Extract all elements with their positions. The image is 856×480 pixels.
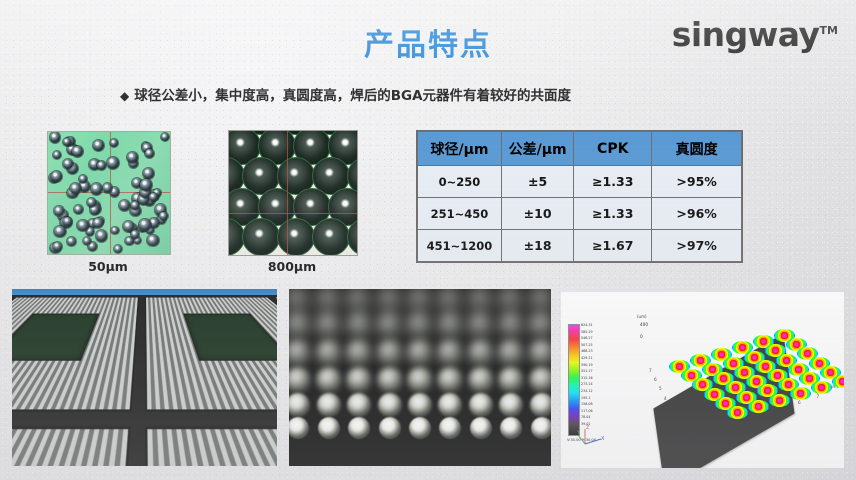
colorbar-tick-label: 156.08 — [581, 401, 615, 408]
solder-ball-particle-large — [312, 218, 350, 256]
solder-ball — [468, 367, 494, 393]
solder-ball-particle — [131, 230, 140, 239]
micrograph-800um-image — [228, 130, 358, 256]
trademark-symbol: TM — [820, 24, 838, 37]
column-header-cpk: CPK — [574, 132, 652, 166]
cell-cpk-1: ≥1.33 — [574, 166, 652, 198]
solder-ball — [289, 417, 309, 439]
solder-ball — [405, 311, 434, 340]
contour-bump — [748, 400, 769, 413]
specification-table: 球径/μm 公差/μm CPK 真圆度 0~250 ±5 ≥1.33 >95% … — [417, 131, 742, 262]
cell-diameter-3: 451~1200 — [418, 230, 502, 262]
solder-ball — [438, 393, 462, 417]
contour-bump — [811, 381, 832, 394]
colorbar-gradient — [568, 324, 580, 436]
solder-ball-particle — [161, 133, 169, 141]
solder-ball-row — [289, 311, 551, 340]
solder-ball-particle — [63, 138, 71, 146]
y-tick-label: 1 — [679, 424, 682, 429]
solder-ball — [527, 311, 551, 340]
solder-ball-particle — [87, 198, 96, 207]
x-tick-label: 6 — [798, 400, 801, 405]
solder-ball — [314, 311, 343, 340]
solder-ball — [436, 339, 464, 367]
solder-ball — [345, 339, 373, 367]
table-row: 0~250 ±5 ≥1.33 >95% — [418, 166, 742, 198]
solder-ball — [528, 339, 551, 367]
solder-ball — [379, 417, 401, 439]
slide-canvas: 产品特点 singwayTM ◆球径公差小，集中度高，真圆度高，焊后的BGA元器… — [0, 0, 856, 480]
company-logo: singwayTM — [672, 18, 838, 51]
solder-ball — [497, 311, 526, 340]
solder-ball — [498, 367, 524, 393]
solder-ball — [531, 417, 551, 439]
crosshair-horizontal-2 — [229, 213, 357, 214]
x-tick-label: 2 — [724, 421, 727, 426]
solder-ball — [436, 311, 465, 340]
solder-ball-particle — [93, 140, 104, 151]
solder-ball-particle — [149, 193, 158, 202]
solder-ball — [467, 339, 495, 367]
contour-bump — [790, 387, 811, 400]
colorbar-tick-label: 585.29 — [581, 329, 615, 336]
solder-ball — [378, 393, 402, 417]
colorbar-tick-label: 624.31 — [581, 322, 615, 329]
colorbar-tick-label: 234.12 — [581, 388, 615, 395]
solder-ball — [437, 367, 463, 393]
svg-text:X: X — [601, 436, 605, 442]
solder-ball-particle — [145, 149, 154, 158]
solder-ball-particle — [127, 152, 138, 163]
micrograph-50um-caption: 50μm — [47, 259, 169, 274]
solder-ball-row — [289, 393, 551, 417]
solder-ball — [409, 417, 431, 439]
solder-ball — [289, 339, 312, 367]
solder-ball-row — [289, 367, 551, 393]
table-row: 451~1200 ±18 ≥1.67 >97% — [418, 230, 742, 262]
solder-ball-particle — [72, 146, 83, 157]
colorbar-tick-label: 195.1 — [581, 395, 615, 402]
solder-ball — [469, 393, 493, 417]
cell-roundness-3: >97% — [652, 230, 742, 262]
solder-ball — [530, 393, 551, 417]
solder-ball — [408, 393, 432, 417]
solder-ball-particle — [97, 161, 106, 170]
colorbar-tick-labels: 624.31585.29546.27507.25468.23429.21390.… — [581, 322, 615, 428]
xyz-axis-indicator-icon: Z X Y — [577, 424, 607, 450]
solder-ball-particle — [74, 205, 83, 214]
colorbar-tick-label: 312.16 — [581, 375, 615, 382]
bullet-point: ◆球径公差小，集中度高，真圆度高，焊后的BGA元器件有着较好的共面度 — [120, 84, 571, 104]
x-tick-label: 7 — [817, 394, 820, 399]
solder-ball-particle — [147, 235, 159, 247]
solder-ball-row — [289, 339, 551, 367]
bga-array-photo — [12, 289, 277, 466]
solder-ball — [439, 417, 461, 439]
surface-plot-area: 01234567 1234567 — [635, 314, 831, 454]
solder-ball-particle — [107, 157, 119, 169]
y-tick-label: 3 — [669, 405, 672, 410]
micrograph-50um-image — [47, 131, 171, 255]
solder-ball-particle — [54, 206, 63, 215]
colorbar-tick-label: 507.25 — [581, 342, 615, 349]
solder-ball-particle — [139, 219, 150, 230]
x-tick-label: 1 — [706, 427, 709, 432]
cell-diameter-1: 0~250 — [418, 166, 502, 198]
cell-diameter-2: 251~450 — [418, 198, 502, 230]
solder-ball-particle — [131, 201, 140, 210]
bga-package — [145, 297, 278, 412]
solder-ball — [289, 311, 313, 340]
colorbar-tick-label: 351.17 — [581, 368, 615, 375]
bullet-point-text: 球径公差小，集中度高，真圆度高，焊后的BGA元器件有着较好的共面度 — [134, 88, 571, 104]
cell-cpk-2: ≥1.33 — [574, 198, 652, 230]
solder-ball-particle — [93, 218, 104, 229]
y-tick-label: 5 — [659, 386, 662, 391]
solder-ball-particle — [96, 230, 107, 241]
logo-wordmark: singway — [672, 15, 820, 54]
table-row: 251~450 ±10 ≥1.33 >96% — [418, 198, 742, 230]
colorbar-tick-label: 390.19 — [581, 362, 615, 369]
solder-ball — [377, 367, 403, 393]
y-tick-label: 2 — [674, 415, 677, 420]
solder-ball — [315, 339, 343, 367]
colorbar-tick-label: 117.06 — [581, 408, 615, 415]
cell-roundness-1: >95% — [652, 166, 742, 198]
solder-ball — [466, 311, 495, 340]
solder-ball-particle — [51, 171, 62, 182]
solder-ball-particle — [67, 237, 76, 246]
solder-ball-row — [289, 417, 551, 439]
solder-ball — [497, 339, 525, 367]
solder-ball — [289, 367, 311, 393]
diamond-bullet-icon: ◆ — [120, 89, 129, 103]
micrograph-800um-caption: 800μm — [228, 259, 356, 274]
solder-ball — [316, 367, 342, 393]
table-header-row: 球径/μm 公差/μm CPK 真圆度 — [418, 132, 742, 166]
solder-ball-particle — [159, 212, 167, 220]
solder-ball — [317, 393, 341, 417]
surface-plot-card: 624.31585.29546.27507.25468.23429.21390.… — [561, 292, 844, 468]
cell-roundness-2: >96% — [652, 198, 742, 230]
cell-tolerance-2: ±10 — [501, 198, 573, 230]
solder-ball — [529, 367, 551, 393]
y-tick-label: 7 — [649, 368, 652, 373]
solder-ball-particle — [140, 179, 152, 191]
y-tick-label: 4 — [664, 396, 667, 401]
colorbar-tick-label: 429.21 — [581, 355, 615, 362]
solder-ball-particle — [53, 151, 61, 159]
x-tick-label: 0 — [687, 432, 690, 437]
solder-ball — [289, 393, 310, 417]
solder-ball-particle-large — [277, 218, 315, 256]
solder-ball-particle — [143, 168, 154, 179]
svg-text:Y: Y — [577, 430, 581, 436]
solder-ball — [348, 417, 370, 439]
contour-bump — [727, 406, 748, 419]
solder-ball — [500, 417, 522, 439]
svg-text:Z: Z — [586, 425, 590, 431]
solder-ball — [407, 367, 433, 393]
cell-tolerance-1: ±5 — [501, 166, 573, 198]
colorbar-tick-label: 546.27 — [581, 335, 615, 342]
cell-cpk-3: ≥1.67 — [574, 230, 652, 262]
contour-bump — [769, 394, 790, 407]
solder-ball — [375, 311, 404, 340]
solder-ball-particle — [77, 220, 88, 231]
column-header-tolerance: 公差/μm — [501, 132, 573, 166]
solder-ball-particle — [111, 227, 118, 234]
y-tick-label: 6 — [654, 377, 657, 382]
colorbar-tick-label: 78.04 — [581, 414, 615, 421]
solder-ball — [318, 417, 340, 439]
solder-ball-particle — [70, 183, 81, 194]
solder-ball — [499, 393, 523, 417]
column-header-ball-diameter: 球径/μm — [418, 132, 502, 166]
solder-ball-rows-photo — [289, 289, 551, 466]
solder-ball-particle-large — [242, 218, 280, 256]
colorbar-tick-label: 468.23 — [581, 348, 615, 355]
solder-ball — [470, 417, 492, 439]
solder-ball — [376, 339, 404, 367]
crosshair-vertical-2 — [287, 131, 288, 255]
solder-ball — [347, 393, 371, 417]
colorbar-tick-label: 273.14 — [581, 381, 615, 388]
solder-ball — [345, 311, 374, 340]
solder-ball-particle — [54, 226, 65, 237]
solder-ball-particle — [53, 242, 62, 251]
column-header-roundness: 真圆度 — [652, 132, 742, 166]
bga-package — [12, 297, 138, 412]
solder-ball — [406, 339, 434, 367]
solder-ball — [346, 367, 372, 393]
cell-tolerance-3: ±18 — [501, 230, 573, 262]
